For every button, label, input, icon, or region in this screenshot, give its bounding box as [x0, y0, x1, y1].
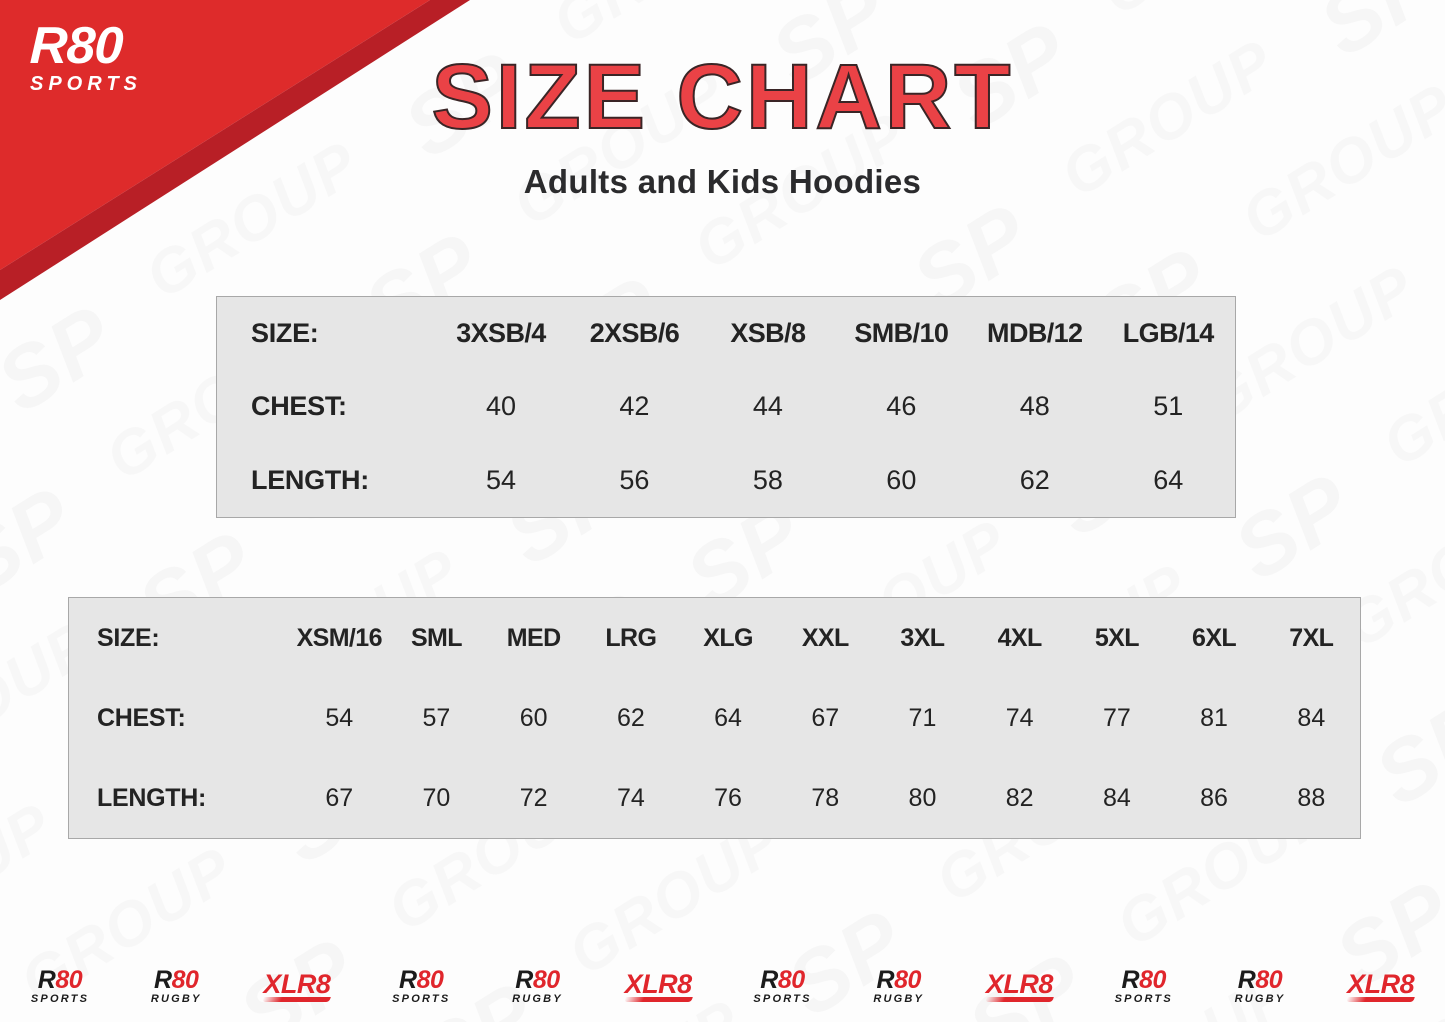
brand-logo-main-text: R80 [29, 20, 145, 72]
footer-logo-subtext: RUGBY [512, 994, 563, 1005]
footer-logo-text: R80 [31, 968, 89, 993]
table-row: SIZE:XSM/16SMLMEDLRGXLGXXL3XL4XL5XL6XL7X… [69, 598, 1360, 678]
footer-logo-number: 80 [172, 966, 199, 994]
kids-size-table-grid: SIZE:3XSB/42XSB/6XSB/8SMB/10MDB/12LGB/14… [217, 297, 1235, 517]
table-cell: 51 [1102, 370, 1236, 443]
footer-logo-subtext: SPORTS [1115, 994, 1173, 1005]
watermark-word: GROUP [360, 0, 614, 39]
kids-size-table: SIZE:3XSB/42XSB/6XSB/8SMB/10MDB/12LGB/14… [216, 296, 1236, 518]
column-header: SML [388, 598, 485, 678]
footer-logo-r80-rugby: R80RUGBY [512, 968, 563, 1005]
footer-logo-letter: R [1238, 966, 1256, 994]
watermark-word: GROUP [1089, 0, 1343, 54]
table-cell: 84 [1263, 678, 1360, 758]
watermark-word: SP [1217, 454, 1370, 601]
table-cell: 48 [968, 370, 1101, 443]
table-cell: 86 [1165, 758, 1262, 838]
page-title: SIZE CHART [0, 48, 1445, 147]
table-cell: 60 [485, 678, 582, 758]
table-row: SIZE:3XSB/42XSB/6XSB/8SMB/10MDB/12LGB/14 [217, 297, 1235, 370]
table-cell: 77 [1068, 678, 1165, 758]
footer-logo-number: 80 [1139, 966, 1166, 994]
footer-logo-r80-rugby: R80RUGBY [151, 968, 202, 1005]
column-header: SMB/10 [835, 297, 968, 370]
table-cell: 67 [777, 678, 874, 758]
watermark-word: SP [1358, 679, 1445, 826]
row-label-length: LENGTH: [69, 758, 291, 838]
footer-logo-letter: R [154, 966, 172, 994]
table-cell: 76 [679, 758, 776, 838]
column-header: MED [485, 598, 582, 678]
table-cell: 58 [701, 444, 834, 517]
table-cell: 88 [1263, 758, 1360, 838]
column-header: LRG [582, 598, 679, 678]
table-cell: 82 [971, 758, 1068, 838]
footer-logo-r80-rugby: R80RUGBY [873, 968, 924, 1005]
table-cell: 62 [968, 444, 1101, 517]
footer-logo-text: R80 [1235, 968, 1286, 993]
brand-logo-r80-sports: R80 SPORTS [30, 20, 144, 94]
footer-logo-text: XLR8 [986, 971, 1053, 998]
footer-logo-subtext: RUGBY [1235, 994, 1286, 1005]
footer-logo-letter: R [760, 966, 778, 994]
table-row: CHEST:404244464851 [217, 370, 1235, 443]
adults-size-table: SIZE:XSM/16SMLMEDLRGXLGXXL3XL4XL5XL6XL7X… [68, 597, 1361, 839]
brand-logo-sub-text: SPORTS [30, 74, 144, 94]
table-cell: 40 [434, 370, 567, 443]
footer-logo-xlr8: XLR8 [1347, 971, 1414, 1002]
table-cell: 44 [701, 370, 834, 443]
footer-logo-letter: R [877, 966, 895, 994]
table-cell: 60 [835, 444, 968, 517]
column-header: XXL [777, 598, 874, 678]
footer-logo-r80-sports: R80SPORTS [753, 968, 811, 1005]
table-cell: 71 [874, 678, 971, 758]
column-header: XLG [679, 598, 776, 678]
footer-logo-subtext: SPORTS [392, 994, 450, 1005]
footer-logo-strip: R80SPORTSR80RUGBYXLR8R80SPORTSR80RUGBYXL… [0, 958, 1445, 1014]
footer-logo-text: R80 [753, 968, 811, 993]
footer-logo-subtext: SPORTS [753, 994, 811, 1005]
xlr8-swoosh-icon [985, 997, 1054, 1002]
page-subtitle: Adults and Kids Hoodies [0, 163, 1445, 201]
row-label-length: LENGTH: [217, 444, 434, 517]
column-header: XSB/8 [701, 297, 834, 370]
column-header: MDB/12 [968, 297, 1101, 370]
column-header: 5XL [1068, 598, 1165, 678]
footer-logo-subtext: RUGBY [873, 994, 924, 1005]
footer-logo-xlr8: XLR8 [625, 971, 692, 1002]
xlr8-swoosh-icon [624, 997, 693, 1002]
watermark-word: GROUP [1371, 295, 1445, 505]
watermark-word: SP [0, 286, 133, 433]
title-block: SIZE CHART Adults and Kids Hoodies [0, 48, 1445, 201]
table-cell: 62 [582, 678, 679, 758]
table-row: LENGTH:545658606264 [217, 444, 1235, 517]
column-header: 4XL [971, 598, 1068, 678]
footer-logo-number: 80 [1255, 966, 1282, 994]
table-cell: 54 [434, 444, 567, 517]
footer-logo-r80-rugby: R80RUGBY [1235, 968, 1286, 1005]
footer-logo-text: R80 [151, 968, 202, 993]
footer-logo-subtext: RUGBY [151, 994, 202, 1005]
footer-logo-number: 80 [55, 966, 82, 994]
table-cell: 57 [388, 678, 485, 758]
footer-logo-text: XLR8 [625, 971, 692, 998]
row-label-size: SIZE: [217, 297, 434, 370]
footer-logo-subtext: SPORTS [31, 994, 89, 1005]
footer-logo-r80-sports: R80SPORTS [392, 968, 450, 1005]
footer-logo-text: R80 [392, 968, 450, 993]
table-cell: 64 [1102, 444, 1236, 517]
column-header: LGB/14 [1102, 297, 1236, 370]
table-cell: 64 [679, 678, 776, 758]
column-header: 2XSB/6 [568, 297, 701, 370]
table-cell: 74 [971, 678, 1068, 758]
table-cell: 84 [1068, 758, 1165, 838]
table-cell: 56 [568, 444, 701, 517]
footer-logo-number: 80 [533, 966, 560, 994]
table-cell: 80 [874, 758, 971, 838]
adults-size-table-grid: SIZE:XSM/16SMLMEDLRGXLGXXL3XL4XL5XL6XL7X… [69, 598, 1360, 838]
table-row: CHEST:5457606264677174778184 [69, 678, 1360, 758]
footer-logo-number: 80 [417, 966, 444, 994]
xlr8-swoosh-icon [1346, 997, 1415, 1002]
footer-logo-letter: R [1122, 966, 1140, 994]
table-cell: 74 [582, 758, 679, 838]
footer-logo-xlr8: XLR8 [986, 971, 1053, 1002]
watermark-word: GROUP [0, 1015, 222, 1022]
footer-logo-letter: R [38, 966, 56, 994]
column-header: 6XL [1165, 598, 1262, 678]
table-cell: 81 [1165, 678, 1262, 758]
table-cell: 70 [388, 758, 485, 838]
table-row: LENGTH:6770727476788082848688 [69, 758, 1360, 838]
row-label-chest: CHEST: [69, 678, 291, 758]
row-label-size: SIZE: [69, 598, 291, 678]
footer-logo-letter: R [515, 966, 533, 994]
table-cell: 67 [291, 758, 388, 838]
footer-logo-xlr8: XLR8 [263, 971, 330, 1002]
xlr8-swoosh-icon [263, 997, 332, 1002]
watermark-word: SP [0, 468, 94, 615]
size-chart-page: SPGROUPSPGROUPSPGROUPSPGROUPSPGROUPSPSPG… [0, 0, 1445, 1022]
table-cell: 54 [291, 678, 388, 758]
footer-logo-text: R80 [512, 968, 563, 993]
footer-logo-letter: R [399, 966, 417, 994]
column-header: 3XL [874, 598, 971, 678]
footer-logo-number: 80 [778, 966, 805, 994]
column-header: 7XL [1263, 598, 1360, 678]
table-cell: 72 [485, 758, 582, 838]
footer-logo-text: XLR8 [1347, 971, 1414, 998]
watermark-row: SPGROUPSPGROUPSPGROUPSPGROUPSPGROUPSP [0, 130, 1445, 1022]
footer-logo-r80-sports: R80SPORTS [31, 968, 89, 1005]
table-cell: 78 [777, 758, 874, 838]
watermark-word: GROUP [908, 0, 1162, 10]
footer-logo-r80-sports: R80SPORTS [1115, 968, 1173, 1005]
column-header: XSM/16 [291, 598, 388, 678]
table-cell: 46 [835, 370, 968, 443]
row-label-chest: CHEST: [217, 370, 434, 443]
footer-logo-text: XLR8 [263, 971, 330, 998]
footer-logo-text: R80 [1115, 968, 1173, 993]
table-cell: 42 [568, 370, 701, 443]
footer-logo-text: R80 [873, 968, 924, 993]
column-header: 3XSB/4 [434, 297, 567, 370]
footer-logo-number: 80 [894, 966, 921, 994]
